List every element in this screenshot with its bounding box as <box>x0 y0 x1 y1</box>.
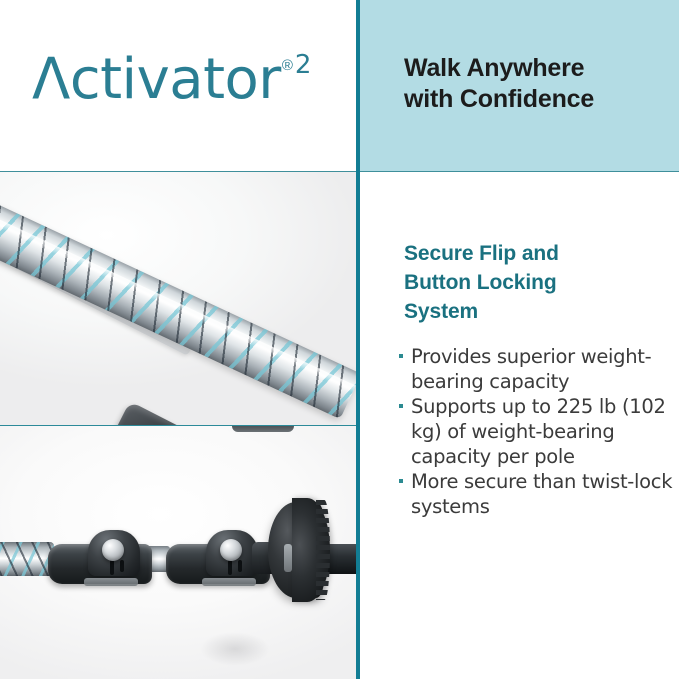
logo-lambda-glyph: Λ <box>32 51 70 108</box>
push-button-icon <box>220 539 242 561</box>
horizontal-divider-top <box>0 171 679 172</box>
shaft-crosshatch-pattern <box>0 542 54 576</box>
lock-underlip <box>202 578 256 586</box>
vertical-divider <box>356 0 360 679</box>
list-item: Provides superior weight-bearing capacit… <box>398 344 676 394</box>
feature-subheading: Secure Flip and Button Locking System <box>404 239 654 326</box>
brand-logo-cell: Λctivator ® 2 <box>0 0 356 171</box>
product-feature-infographic: Λctivator ® 2 Walk Anywhere with Confide… <box>0 0 679 679</box>
list-item-text: Supports up to 225 lb (102 kg) of weight… <box>411 395 666 468</box>
logo-superscript-two: 2 <box>295 52 312 78</box>
feature-bullet-list: Provides superior weight-bearing capacit… <box>398 344 676 519</box>
page-title: Walk Anywhere with Confidence <box>404 53 662 115</box>
button-lock-joint-1 <box>48 530 152 590</box>
cropped-pole-edge <box>232 426 294 432</box>
subheading-line-3: System <box>404 297 654 326</box>
subheading-line-1: Secure Flip and <box>404 239 654 268</box>
headline-line-2: with Confidence <box>404 84 662 115</box>
subheading-line-2: Button Locking <box>404 268 654 297</box>
photo-button-locks-and-tip <box>0 426 356 679</box>
lock-underlip <box>84 578 138 586</box>
headline-panel: Walk Anywhere with Confidence <box>360 0 679 171</box>
logo-word-text: ctivator <box>70 47 281 112</box>
basket-collar-ring <box>284 544 292 572</box>
headline-line-1: Walk Anywhere <box>404 53 662 84</box>
bullet-dot-icon <box>399 479 403 483</box>
logo-wordmark: Λctivator <box>32 52 281 108</box>
registered-trademark-icon: ® <box>282 58 293 73</box>
photo-flip-lock-closeup: CT EDITION <box>0 172 356 425</box>
list-item-text: Provides superior weight-bearing capacit… <box>411 345 651 393</box>
activator-logo: Λctivator ® 2 <box>32 52 311 108</box>
lock-slit <box>238 560 242 572</box>
list-item: More secure than twist-lock systems <box>398 469 676 519</box>
lock-slit <box>228 560 232 575</box>
basket-serrated-edge <box>316 500 330 600</box>
horizontal-divider-middle <box>0 425 358 426</box>
list-item-text: More secure than twist-lock systems <box>411 470 672 518</box>
bullet-dot-icon <box>399 354 403 358</box>
feature-text-column: Secure Flip and Button Locking System Pr… <box>360 172 679 679</box>
photo-soft-shadow <box>200 632 270 666</box>
bullet-dot-icon <box>399 404 403 408</box>
lock-slit <box>110 560 114 575</box>
patterned-shaft-segment <box>0 542 54 576</box>
list-item: Supports up to 225 lb (102 kg) of weight… <box>398 394 676 469</box>
lock-slit <box>120 560 124 572</box>
push-button-icon <box>102 539 124 561</box>
